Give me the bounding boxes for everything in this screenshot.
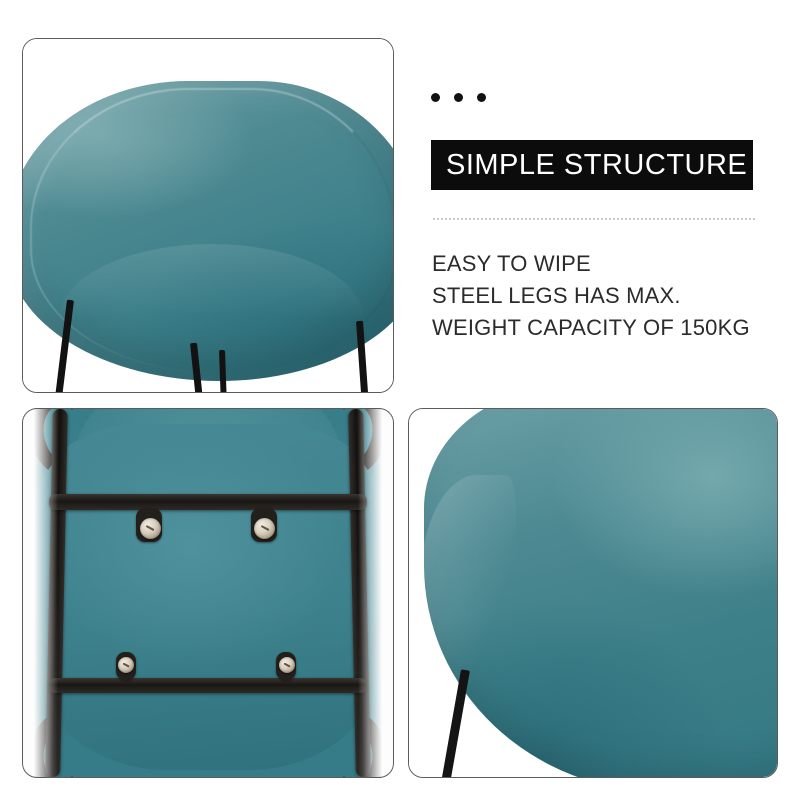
headline-text: SIMPLE STRUCTURE: [431, 149, 747, 182]
product-photo-closeup: [408, 408, 778, 778]
screw-icon-2: [254, 518, 275, 539]
screw-icon-1: [140, 518, 161, 539]
feature-line-3: WEIGHT CAPACITY OF 150KG: [432, 312, 772, 344]
feature-description: EASY TO WIPE STEEL LEGS HAS MAX. WEIGHT …: [432, 248, 772, 344]
feature-line-1: EASY TO WIPE: [432, 248, 772, 280]
product-photo-hero: [22, 38, 394, 393]
chair-seat-edge-highlight: [420, 475, 516, 747]
frame-rail-bottom: [49, 678, 367, 693]
headline-banner: SIMPLE STRUCTURE: [431, 140, 753, 190]
dot-icon-2: [454, 93, 463, 102]
dotted-divider: [433, 218, 755, 220]
product-infographic: SIMPLE STRUCTURE EASY TO WIPE STEEL LEGS…: [0, 0, 800, 800]
closeup-photo-stage: [409, 409, 777, 777]
frame-rail-top: [49, 494, 367, 510]
underside-backdrop-right: [358, 408, 394, 778]
feature-line-2: STEEL LEGS HAS MAX.: [432, 280, 772, 312]
feature-text-column: SIMPLE STRUCTURE EASY TO WIPE STEEL LEGS…: [408, 38, 780, 393]
product-photo-underside: [22, 408, 394, 778]
decorative-dots: [431, 93, 486, 102]
dot-icon-3: [477, 93, 486, 102]
underside-backdrop-left: [22, 408, 58, 778]
underside-photo-stage: [23, 409, 393, 777]
dot-icon-1: [431, 93, 440, 102]
hero-photo-stage: [23, 39, 393, 392]
